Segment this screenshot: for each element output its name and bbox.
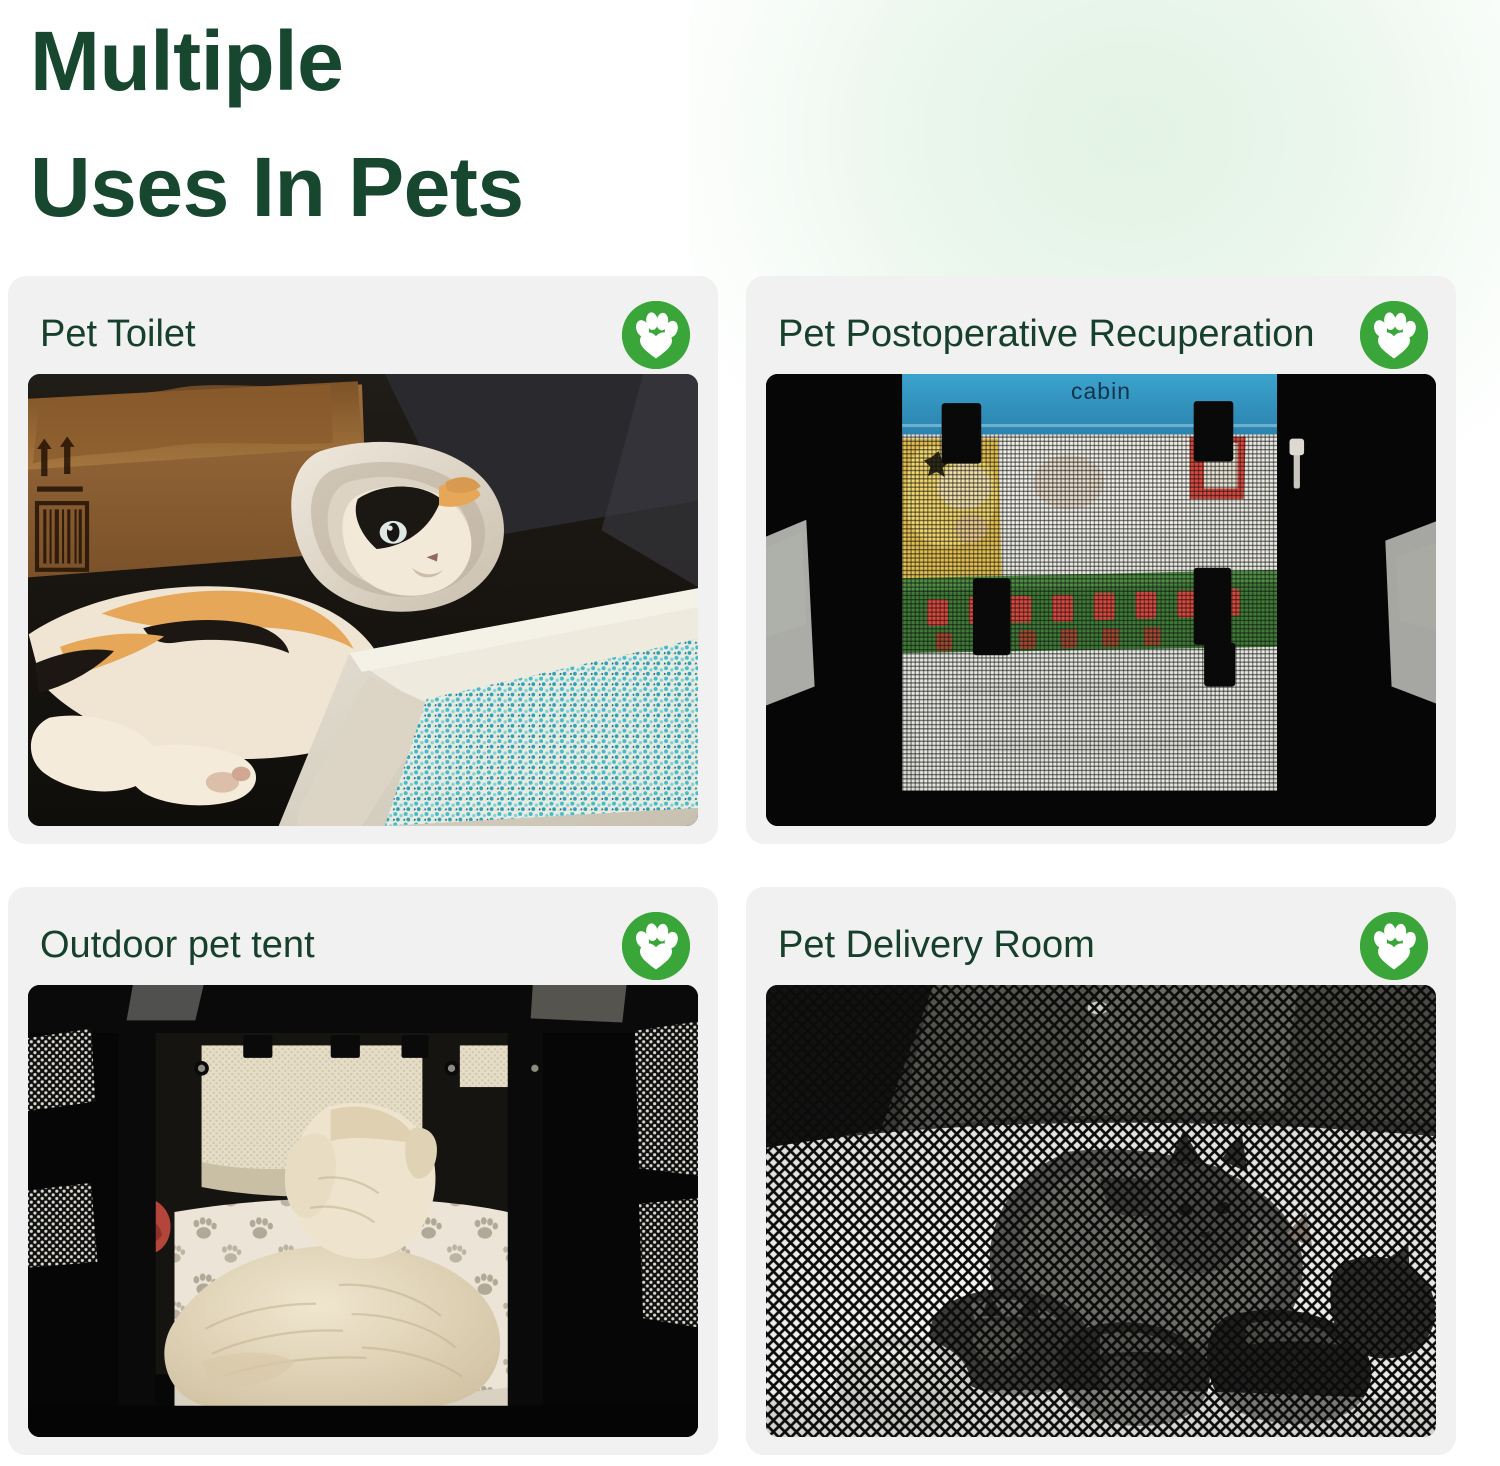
paw-icon: [622, 912, 690, 980]
use-case-card-outdoor-pet-tent[interactable]: Outdoor pet tent: [8, 887, 718, 1455]
card-header: Pet Postoperative Recuperation: [766, 296, 1436, 374]
card-title: Pet Toilet: [40, 314, 196, 356]
page-title: Multiple Uses In Pets: [30, 0, 790, 250]
photo-pet-delivery-room: [766, 985, 1436, 1437]
paw-icon: [622, 301, 690, 369]
card-title: Outdoor pet tent: [40, 925, 315, 967]
use-case-card-pet-toilet[interactable]: Pet Toilet: [8, 276, 718, 844]
paw-icon: [1360, 912, 1428, 980]
photo-pet-toilet: [28, 374, 698, 826]
carrier-brand-text: cabin: [1071, 378, 1131, 404]
use-case-card-pet-delivery-room[interactable]: Pet Delivery Room: [746, 887, 1456, 1455]
card-header: Pet Toilet: [28, 296, 698, 374]
card-title: Pet Delivery Room: [778, 925, 1095, 967]
use-case-card-grid: Pet Toilet: [8, 276, 1492, 1455]
infographic-page: Multiple Uses In Pets Pet Toilet: [0, 0, 1500, 1466]
photo-pet-postoperative-recuperation: cabin: [766, 374, 1436, 826]
card-title: Pet Postoperative Recuperation: [778, 314, 1315, 356]
photo-outdoor-pet-tent: [28, 985, 698, 1437]
use-case-card-pet-postoperative-recuperation[interactable]: Pet Postoperative Recuperation: [746, 276, 1456, 844]
paw-icon: [1360, 301, 1428, 369]
card-header: Outdoor pet tent: [28, 907, 698, 985]
card-header: Pet Delivery Room: [766, 907, 1436, 985]
